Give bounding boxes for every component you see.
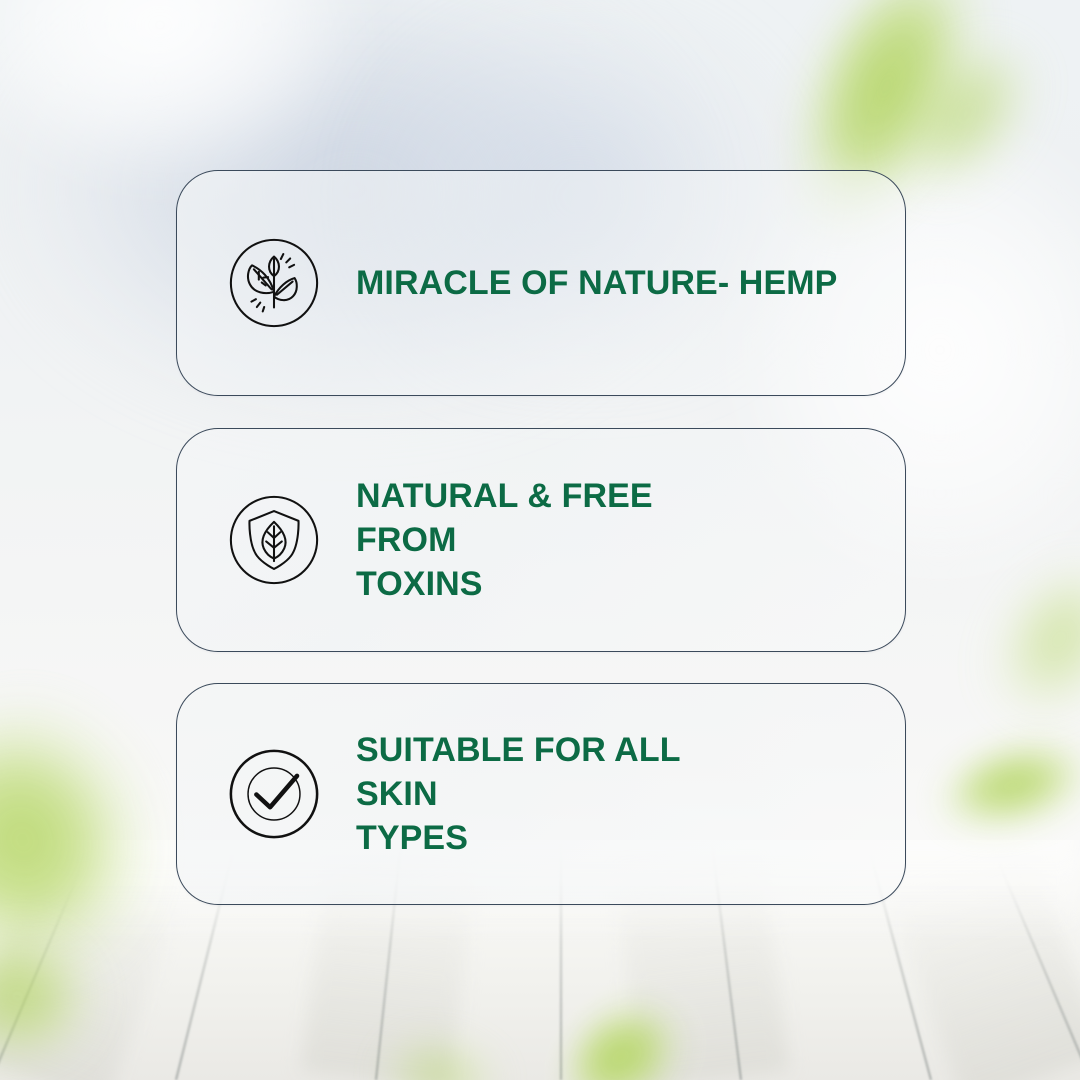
benefit-label: SUITABLE FOR ALL SKIN TYPES — [356, 728, 756, 860]
benefit-card-list: MIRACLE OF NATURE- HEMP NATURAL & FR — [176, 170, 906, 905]
infographic-canvas: MIRACLE OF NATURE- HEMP NATURAL & FR — [0, 0, 1080, 1080]
benefit-card[interactable]: MIRACLE OF NATURE- HEMP — [176, 170, 906, 396]
benefit-label: NATURAL & FREE FROM TOXINS — [356, 474, 756, 606]
benefit-label: MIRACLE OF NATURE- HEMP — [356, 261, 837, 305]
benefit-card[interactable]: NATURAL & FREE FROM TOXINS — [176, 428, 906, 652]
check-circle-icon — [225, 745, 323, 843]
benefit-card[interactable]: SUITABLE FOR ALL SKIN TYPES — [176, 683, 906, 905]
sprout-in-circle-icon — [225, 234, 323, 332]
shield-leaf-icon — [225, 491, 323, 589]
